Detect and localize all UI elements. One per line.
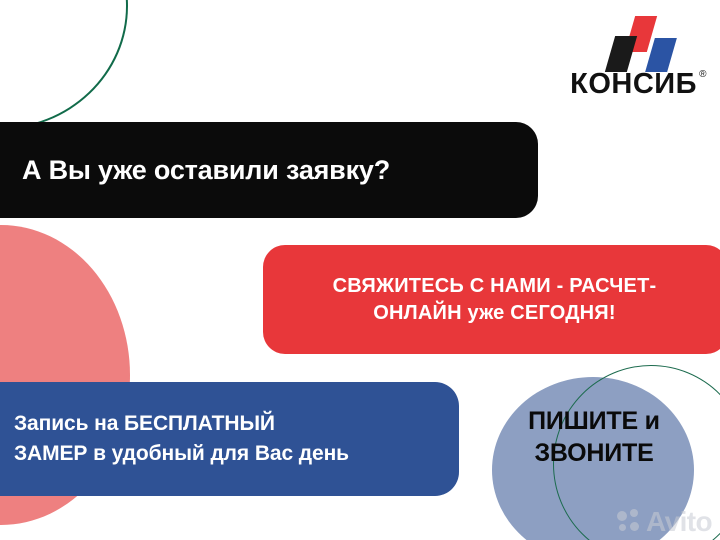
question-banner-text: А Вы уже оставили заявку? (22, 155, 390, 186)
avito-watermark: Avito (617, 508, 712, 536)
contact-banner-text: СВЯЖИТЕСЬ С НАМИ - РАСЧЕТ- ОНЛАЙН уже СЕ… (285, 273, 704, 326)
logo-parallelogram-black-icon (605, 36, 637, 72)
contact-banner-line1: СВЯЖИТЕСЬ С НАМИ - РАСЧЕТ- (333, 275, 657, 297)
callout-text: ПИШИТЕ и ЗВОНИТЕ (492, 405, 696, 469)
booking-banner-text: Запись на БЕСПЛАТНЫЙ ЗАМЕР в удобный для… (14, 409, 349, 469)
booking-banner-line2: ЗАМЕР в удобный для Вас день (14, 439, 349, 469)
contact-banner: СВЯЖИТЕСЬ С НАМИ - РАСЧЕТ- ОНЛАЙН уже СЕ… (263, 245, 720, 354)
green-ring-decoration-top (0, 0, 128, 130)
question-banner: А Вы уже оставили заявку? (0, 122, 538, 218)
booking-banner-line1: Запись на БЕСПЛАТНЫЙ (14, 412, 275, 435)
callout-line2: ЗВОНИТЕ (492, 437, 696, 469)
poster-canvas: КОНСИБ ® А Вы уже оставили заявку? СВЯЖИ… (0, 0, 720, 540)
contact-banner-line2: ОНЛАЙН уже СЕГОДНЯ! (285, 300, 704, 326)
avito-watermark-label: Avito (646, 508, 712, 536)
logo-mark-group (586, 16, 706, 68)
logo-parallelogram-blue-icon (645, 38, 677, 72)
brand-logo: КОНСИБ ® (570, 16, 706, 99)
logo-wordmark-text: КОНСИБ (570, 68, 697, 100)
callout-line1: ПИШИТЕ и (528, 407, 660, 435)
registered-trademark-icon: ® (699, 70, 707, 80)
logo-wordmark-wrapper: КОНСИБ ® (570, 70, 706, 99)
booking-banner: Запись на БЕСПЛАТНЫЙ ЗАМЕР в удобный для… (0, 382, 459, 496)
avito-dots-icon (617, 509, 643, 535)
